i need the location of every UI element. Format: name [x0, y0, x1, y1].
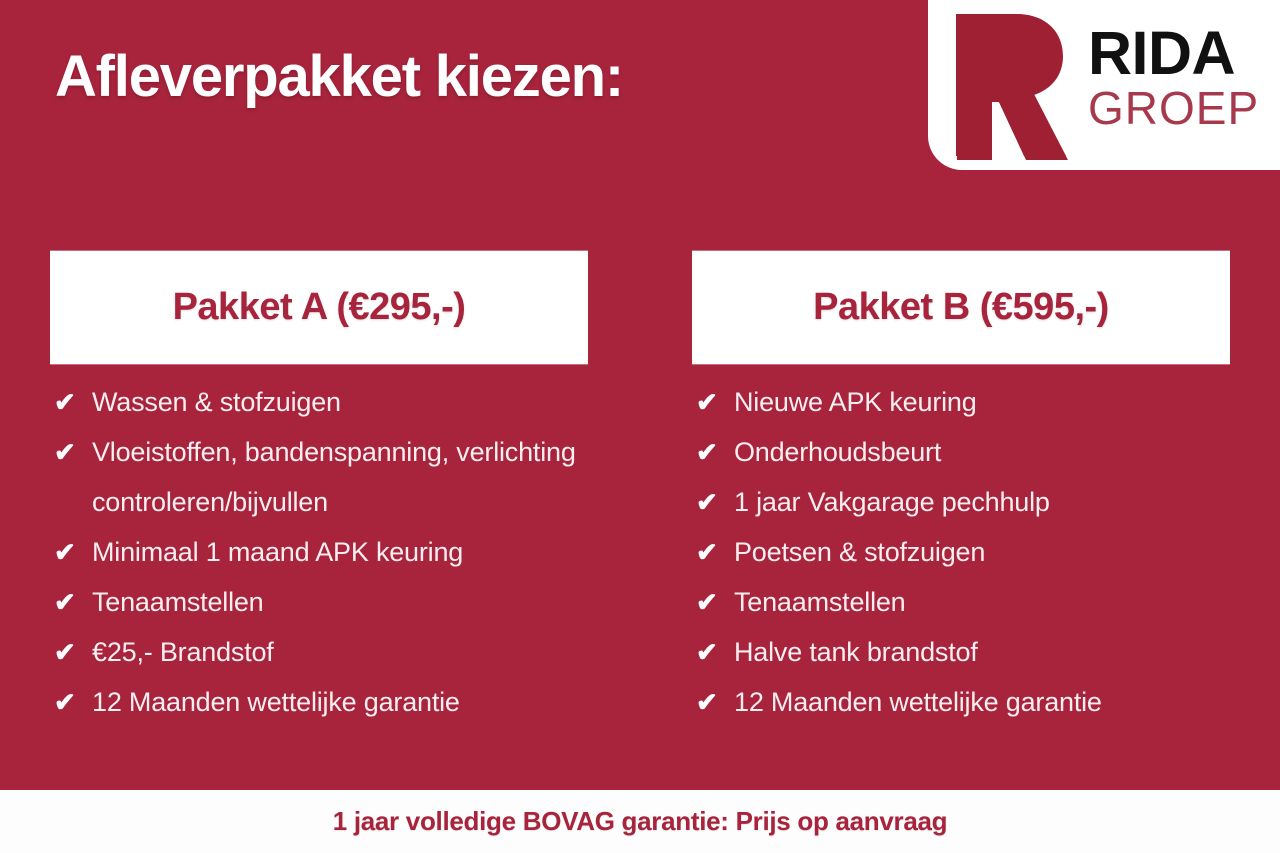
list-item: ✔ 1 jaar Vakgarage pechhulp	[692, 477, 1230, 527]
list-item: ✔ €25,- Brandstof	[50, 627, 588, 677]
feature-label: Nieuwe APK keuring	[734, 377, 1226, 427]
check-icon: ✔	[50, 427, 92, 477]
feature-label: 12 Maanden wettelijke garantie	[734, 677, 1226, 727]
check-icon: ✔	[50, 627, 92, 677]
page-title: Afleverpakket kiezen:	[55, 44, 623, 111]
check-icon: ✔	[692, 427, 734, 477]
check-icon: ✔	[692, 477, 734, 527]
feature-label: Onderhoudsbeurt	[734, 427, 1226, 477]
check-icon: ✔	[50, 577, 92, 627]
feature-label: Minimaal 1 maand APK keuring	[92, 527, 584, 577]
list-item: ✔ 12 Maanden wettelijke garantie	[50, 677, 588, 727]
check-icon: ✔	[50, 527, 92, 577]
package-card-pakket-a[interactable]: Pakket A (€295,-) ✔ Wassen & stofzuigen …	[50, 251, 588, 727]
list-item: ✔ Halve tank brandstof	[692, 627, 1230, 677]
check-icon: ✔	[692, 377, 734, 427]
feature-label: €25,- Brandstof	[92, 627, 584, 677]
package-title-pakket-b: Pakket B (€595,-)	[813, 286, 1109, 329]
feature-label: Wassen & stofzuigen	[92, 377, 584, 427]
feature-label: 12 Maanden wettelijke garantie	[92, 677, 584, 727]
footer-bar: 1 jaar volledige BOVAG garantie: Prijs o…	[0, 790, 1280, 853]
feature-list-pakket-a: ✔ Wassen & stofzuigen ✔ Vloeistoffen, ba…	[50, 377, 588, 727]
list-item: ✔ Vloeistoffen, bandenspanning, verlicht…	[50, 427, 588, 527]
check-icon: ✔	[692, 527, 734, 577]
check-icon: ✔	[692, 627, 734, 677]
list-item: ✔ Onderhoudsbeurt	[692, 427, 1230, 477]
brand-wordmark: RIDA GROEP	[1088, 25, 1259, 145]
list-item: ✔ Poetsen & stofzuigen	[692, 527, 1230, 577]
footer-note: 1 jaar volledige BOVAG garantie: Prijs o…	[333, 806, 948, 837]
package-card-pakket-b[interactable]: Pakket B (€595,-) ✔ Nieuwe APK keuring ✔…	[692, 251, 1230, 727]
list-item: ✔ Nieuwe APK keuring	[692, 377, 1230, 427]
list-item: ✔ Tenaamstellen	[50, 577, 588, 627]
package-header-pakket-b: Pakket B (€595,-)	[692, 251, 1230, 364]
feature-label: 1 jaar Vakgarage pechhulp	[734, 477, 1226, 527]
feature-label: Vloeistoffen, bandenspanning, verlichtin…	[92, 427, 584, 527]
afleverpakket-poster: Afleverpakket kiezen: RIDA GROEP Pakket …	[0, 0, 1280, 853]
package-columns: Pakket A (€295,-) ✔ Wassen & stofzuigen …	[0, 251, 1280, 727]
list-item: ✔ Wassen & stofzuigen	[50, 377, 588, 427]
feature-label: Tenaamstellen	[734, 577, 1226, 627]
check-icon: ✔	[692, 577, 734, 627]
brand-name-secondary: GROEP	[1088, 85, 1259, 131]
list-item: ✔ Tenaamstellen	[692, 577, 1230, 627]
feature-list-pakket-b: ✔ Nieuwe APK keuring ✔ Onderhoudsbeurt ✔…	[692, 377, 1230, 727]
feature-label: Poetsen & stofzuigen	[734, 527, 1226, 577]
check-icon: ✔	[50, 677, 92, 727]
check-icon: ✔	[692, 677, 734, 727]
feature-label: Tenaamstellen	[92, 577, 584, 627]
package-title-pakket-a: Pakket A (€295,-)	[173, 286, 466, 329]
list-item: ✔ 12 Maanden wettelijke garantie	[692, 677, 1230, 727]
list-item: ✔ Minimaal 1 maand APK keuring	[50, 527, 588, 577]
brand-logo-panel: RIDA GROEP	[928, 0, 1280, 170]
brand-name-primary: RIDA	[1088, 25, 1235, 83]
package-header-pakket-a: Pakket A (€295,-)	[50, 251, 588, 364]
feature-label: Halve tank brandstof	[734, 627, 1226, 677]
rida-r-monogram-icon	[942, 0, 1074, 170]
check-icon: ✔	[50, 377, 92, 427]
